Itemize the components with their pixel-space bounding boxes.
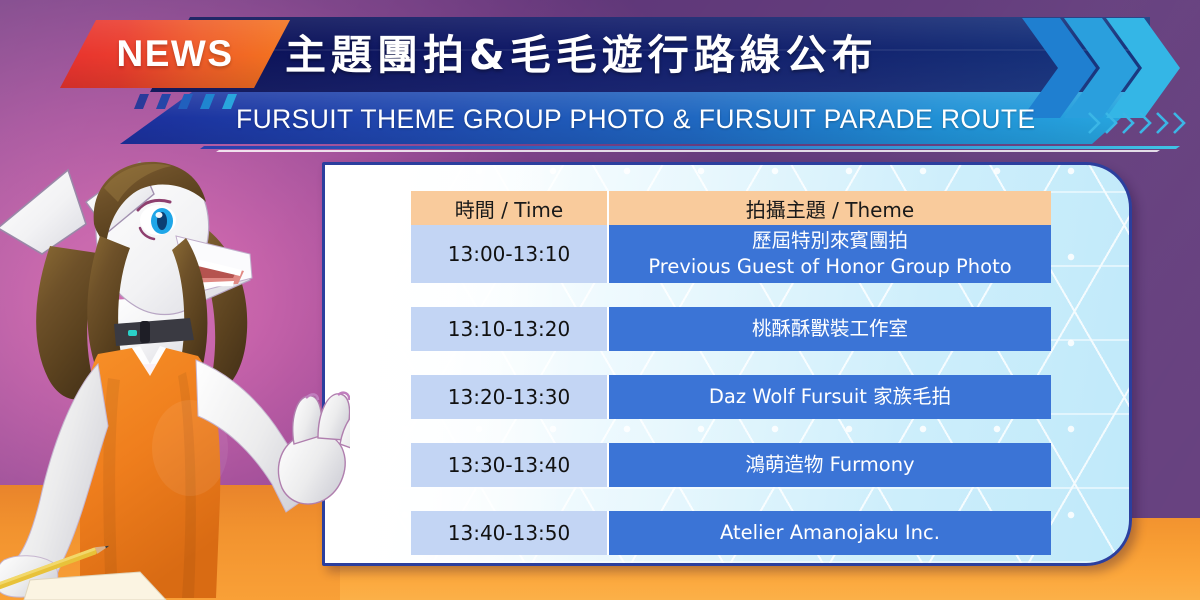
table-header-row: 時間 / Time 拍攝主題 / Theme [411,191,1051,225]
chevron-right-icon-small [1173,112,1186,134]
cell-theme-line: 桃酥酥獸裝工作室 [752,316,908,342]
slanted-dash-icon [222,94,237,109]
wolf-mascot-character [0,128,350,600]
slanted-dash-icon [200,94,215,109]
table-row: 13:10-13:20桃酥酥獸裝工作室 [411,307,1051,351]
table-row-gap [411,283,1051,307]
cell-theme: 歷屆特別來賓團拍Previous Guest of Honor Group Ph… [607,225,1051,283]
chevron-small-row [1088,112,1193,134]
table-row: 13:30-13:40鴻萌造物 Furmony [411,443,1051,487]
table-row-gap [411,419,1051,443]
chevron-right-icon-large-3 [1106,18,1180,118]
dash-decoration-row [134,94,264,109]
table-body: 13:00-13:10歷屆特別來賓團拍Previous Guest of Hon… [411,225,1051,566]
chevron-right-icon-small [1139,112,1152,134]
table-row: 13:00-13:10歷屆特別來賓團拍Previous Guest of Hon… [411,225,1051,283]
banner-title-english: FURSUIT THEME GROUP PHOTO & FURSUIT PARA… [236,100,1116,138]
chevron-right-icon-small [1156,112,1169,134]
chevron-right-icon-small [1088,112,1101,134]
cell-theme-line: Daz Wolf Fursuit 家族毛拍 [709,384,951,410]
cell-time: 13:00-13:10 [411,225,607,283]
cell-theme: 桃酥酥獸裝工作室 [607,307,1051,351]
banner-title-chinese: 主題團拍&毛毛遊行路線公布 [285,26,985,86]
schedule-panel: 時間 / Time 拍攝主題 / Theme 13:00-13:10歷屆特別來賓… [322,162,1132,566]
table-row-gap [411,487,1051,511]
slanted-dash-icon [156,94,171,109]
cell-theme-line: 歷屆特別來賓團拍 [752,228,908,254]
slanted-dash-icon [178,94,193,109]
cell-time: 13:30-13:40 [411,443,607,487]
cell-time: 13:40-13:50 [411,511,607,555]
slanted-dash-icon [134,94,149,109]
cell-theme: Daz Wolf Fursuit 家族毛拍 [607,375,1051,419]
column-header-theme: 拍攝主題 / Theme [607,191,1051,225]
schedule-table: 時間 / Time 拍攝主題 / Theme 13:00-13:10歷屆特別來賓… [411,191,1051,566]
cell-theme: Atelier Amanojaku Inc. [607,511,1051,555]
column-header-time: 時間 / Time [411,191,607,225]
cell-theme-line: Atelier Amanojaku Inc. [720,520,940,546]
cell-time: 13:20-13:30 [411,375,607,419]
table-row-gap [411,351,1051,375]
news-badge-label: NEWS [60,20,290,88]
cell-theme: 鴻萌造物 Furmony [607,443,1051,487]
table-row-gap [411,555,1051,566]
table-row: 13:40-13:50Atelier Amanojaku Inc. [411,511,1051,555]
wolf-mascot-illustration [0,128,350,600]
cell-time: 13:10-13:20 [411,307,607,351]
chevron-right-icon-small [1122,112,1135,134]
chevron-right-icon-small [1105,112,1118,134]
banner-underline-white [216,150,1160,152]
cell-theme-line: Previous Guest of Honor Group Photo [648,254,1011,280]
table-row: 13:20-13:30Daz Wolf Fursuit 家族毛拍 [411,375,1051,419]
cell-theme-line: 鴻萌造物 Furmony [745,452,914,478]
poster-stage: 時間 / Time 拍攝主題 / Theme 13:00-13:10歷屆特別來賓… [0,0,1200,600]
